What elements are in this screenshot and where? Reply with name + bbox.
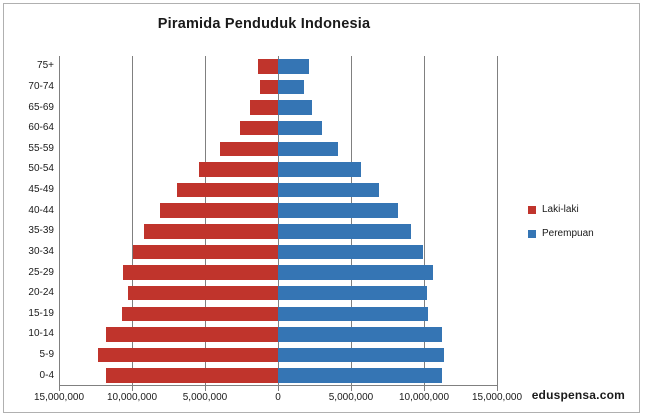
pyramid-row [59, 224, 497, 238]
x-axis-tick [351, 386, 352, 391]
pyramid-row [59, 286, 497, 300]
pyramid-row [59, 327, 497, 341]
bar-male [240, 121, 278, 135]
x-axis-tick [132, 386, 133, 391]
bar-female [278, 59, 309, 73]
legend-item[interactable]: Laki-laki [528, 204, 594, 215]
pyramid-row [59, 265, 497, 279]
y-axis-label: 35-39 [28, 225, 54, 236]
pyramid-row [59, 121, 497, 135]
pyramid-row [59, 348, 497, 362]
y-axis-label: 50-54 [28, 163, 54, 174]
bar-male [122, 307, 278, 321]
x-axis-tick [278, 386, 279, 391]
chart-legend: Laki-lakiPerempuan [528, 204, 594, 252]
pyramid-row [59, 307, 497, 321]
pyramid-row [59, 100, 497, 114]
bar-female [278, 368, 442, 382]
x-axis-label: 15,000,000 [472, 392, 522, 403]
bar-male [258, 59, 278, 73]
bar-female [278, 245, 423, 259]
chart-container: Piramida Penduduk Indonesia 75+70-7465-6… [3, 3, 640, 413]
bar-male [199, 162, 278, 176]
x-axis-label: 15,000,000 [34, 392, 84, 403]
x-axis-tick [424, 386, 425, 391]
watermark: eduspensa.com [532, 388, 625, 402]
bar-female [278, 327, 442, 341]
y-axis-label: 70-74 [28, 81, 54, 92]
x-axis-label: 5,000,000 [183, 392, 228, 403]
bar-female [278, 100, 312, 114]
y-axis-label: 0-4 [40, 370, 54, 381]
x-axis-labels: 15,000,00010,000,0005,000,00005,000,0001… [59, 392, 497, 408]
bar-female [278, 348, 444, 362]
legend-swatch-icon [528, 230, 536, 238]
y-axis-label: 55-59 [28, 143, 54, 154]
bar-female [278, 286, 427, 300]
bar-male [160, 203, 278, 217]
bar-male [128, 286, 278, 300]
y-axis-label: 5-9 [40, 349, 54, 360]
y-axis-label: 60-64 [28, 122, 54, 133]
bar-female [278, 203, 398, 217]
y-axis-labels: 75+70-7465-6960-6455-5950-5445-4940-4435… [4, 56, 54, 386]
x-axis-tick [59, 386, 60, 391]
y-axis-label: 75+ [37, 60, 54, 71]
x-axis-label: 10,000,000 [107, 392, 157, 403]
bar-female [278, 121, 322, 135]
x-axis-tick [497, 386, 498, 391]
y-axis-label: 25-29 [28, 267, 54, 278]
y-axis-label: 45-49 [28, 184, 54, 195]
pyramid-row [59, 183, 497, 197]
bar-male [250, 100, 278, 114]
bar-male [133, 245, 278, 259]
y-axis-label: 10-14 [28, 328, 54, 339]
pyramid-row [59, 142, 497, 156]
pyramid-row [59, 245, 497, 259]
bar-male [144, 224, 278, 238]
bar-male [177, 183, 278, 197]
pyramid-row [59, 203, 497, 217]
y-axis-label: 65-69 [28, 102, 54, 113]
y-axis-label: 40-44 [28, 205, 54, 216]
y-axis-label: 20-24 [28, 287, 54, 298]
bar-female [278, 307, 428, 321]
x-axis-tick [205, 386, 206, 391]
bar-female [278, 142, 338, 156]
y-axis-label: 15-19 [28, 308, 54, 319]
chart-title: Piramida Penduduk Indonesia [4, 16, 524, 32]
bar-female [278, 162, 361, 176]
bar-male [123, 265, 278, 279]
bar-male [106, 327, 278, 341]
y-axis-label: 30-34 [28, 246, 54, 257]
plot-area [59, 56, 497, 386]
bar-female [278, 183, 379, 197]
legend-item[interactable]: Perempuan [528, 228, 594, 239]
legend-swatch-icon [528, 206, 536, 214]
bar-male [220, 142, 278, 156]
legend-label: Laki-laki [542, 204, 579, 215]
x-axis-label: 10,000,000 [399, 392, 449, 403]
bar-female [278, 80, 304, 94]
bar-male [98, 348, 278, 362]
gridline [497, 56, 498, 386]
bar-female [278, 265, 433, 279]
bar-male [106, 368, 278, 382]
legend-label: Perempuan [542, 228, 594, 239]
x-axis-label: 0 [275, 392, 281, 403]
pyramid-row [59, 80, 497, 94]
bar-female [278, 224, 411, 238]
x-axis-label: 5,000,000 [329, 392, 374, 403]
bar-male [260, 80, 278, 94]
pyramid-row [59, 368, 497, 382]
pyramid-row [59, 162, 497, 176]
pyramid-row [59, 59, 497, 73]
